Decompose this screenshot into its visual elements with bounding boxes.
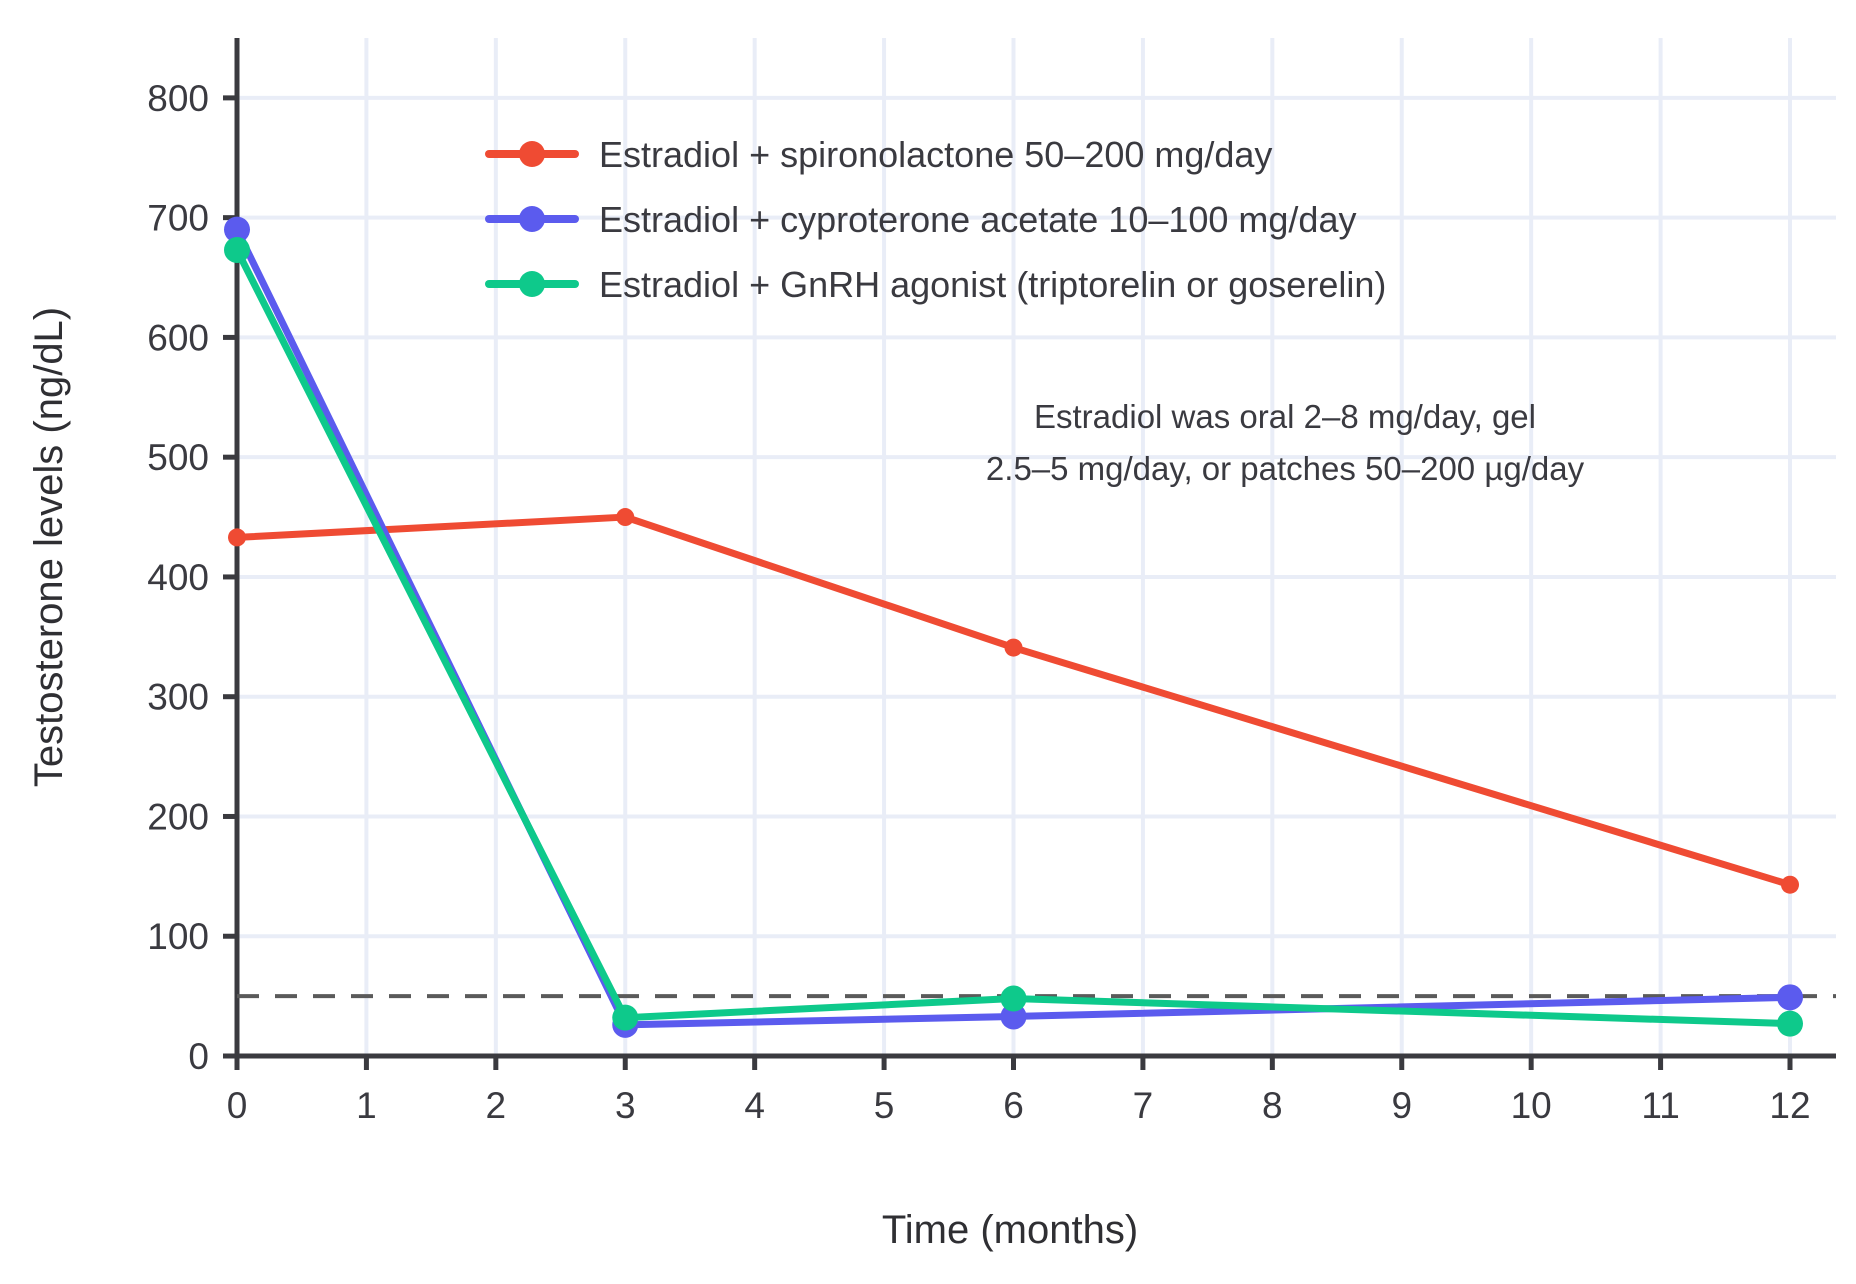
x-tick-label: 6 xyxy=(1003,1085,1024,1126)
data-point xyxy=(1777,1011,1803,1037)
x-tick-label: 11 xyxy=(1641,1085,1679,1126)
data-point xyxy=(616,508,634,526)
legend-label[interactable]: Estradiol + spironolactone 50–200 mg/day xyxy=(599,134,1272,175)
x-tick-label: 0 xyxy=(227,1085,248,1126)
data-point xyxy=(1005,639,1023,657)
x-tick-label: 10 xyxy=(1511,1085,1552,1126)
chart-figure: 0100200300400500600700800 01234567891011… xyxy=(0,0,1856,1284)
y-tick-label: 400 xyxy=(147,557,209,598)
x-tick-label: 4 xyxy=(744,1085,765,1126)
x-tick-label: 3 xyxy=(615,1085,636,1126)
legend-swatch-marker[interactable] xyxy=(519,271,545,297)
x-tick-label: 12 xyxy=(1769,1085,1810,1126)
data-point xyxy=(224,237,250,263)
y-tick-label: 700 xyxy=(147,198,209,239)
x-tick-label: 7 xyxy=(1133,1085,1154,1126)
data-point xyxy=(228,528,246,546)
x-tick-label: 8 xyxy=(1262,1085,1283,1126)
annotation-line: Estradiol was oral 2–8 mg/day, gel xyxy=(1034,398,1536,435)
y-axis-ticks: 0100200300400500600700800 xyxy=(147,78,237,1077)
legend-label[interactable]: Estradiol + cyproterone acetate 10–100 m… xyxy=(599,199,1356,240)
x-axis-title: Time (months) xyxy=(882,1208,1138,1252)
y-tick-label: 500 xyxy=(147,437,209,478)
legend-label[interactable]: Estradiol + GnRH agonist (triptorelin or… xyxy=(599,264,1386,305)
gridlines xyxy=(237,38,1836,1056)
annotation-line: 2.5–5 mg/day, or patches 50–200 µg/day xyxy=(986,450,1585,487)
data-point xyxy=(1781,876,1799,894)
legend-swatch-marker[interactable] xyxy=(519,141,545,167)
data-point xyxy=(612,1005,638,1031)
y-tick-label: 800 xyxy=(147,78,209,119)
legend[interactable]: Estradiol + spironolactone 50–200 mg/day… xyxy=(489,134,1386,305)
y-axis-title: Testosterone levels (ng/dL) xyxy=(27,307,71,787)
x-tick-label: 1 xyxy=(356,1085,377,1126)
y-tick-label: 200 xyxy=(147,796,209,837)
x-axis-ticks: 0123456789101112 xyxy=(227,1056,1811,1126)
line-chart-svg: 0100200300400500600700800 01234567891011… xyxy=(0,0,1856,1284)
x-tick-label: 2 xyxy=(486,1085,507,1126)
data-point xyxy=(1001,986,1027,1012)
legend-swatch-marker[interactable] xyxy=(519,206,545,232)
data-point xyxy=(1777,984,1803,1010)
x-tick-label: 9 xyxy=(1391,1085,1412,1126)
x-tick-label: 5 xyxy=(874,1085,895,1126)
y-tick-label: 600 xyxy=(147,317,209,358)
y-tick-label: 100 xyxy=(147,916,209,957)
annotation-note: Estradiol was oral 2–8 mg/day, gel2.5–5 … xyxy=(986,398,1585,487)
y-tick-label: 0 xyxy=(188,1036,209,1077)
y-tick-label: 300 xyxy=(147,677,209,718)
